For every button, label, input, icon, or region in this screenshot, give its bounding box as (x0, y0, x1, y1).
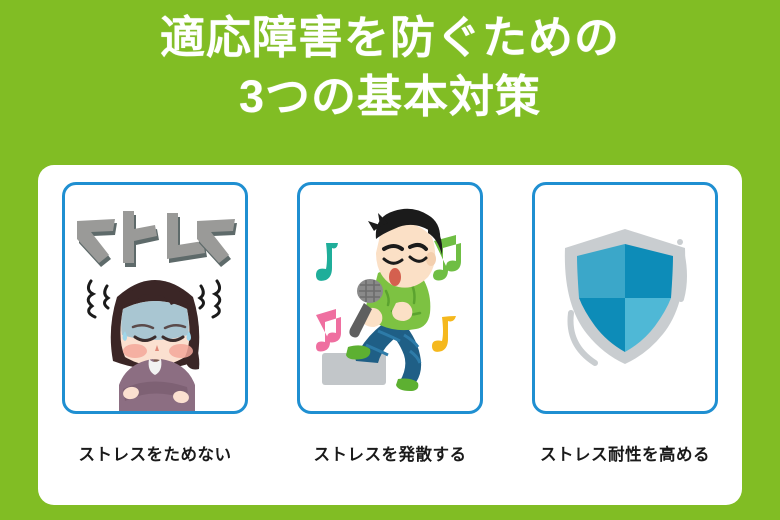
panel-caption-3: ストレス耐性を高める (540, 445, 710, 465)
mouth (389, 268, 401, 286)
poster-root: 適応障害を防ぐための 3つの基本対策 (0, 0, 780, 520)
panel-caption-2: ストレスを発散する (314, 445, 467, 465)
cheek-left (123, 344, 147, 358)
panel-stress-tolerance: ストレス耐性を高める (532, 182, 718, 505)
shield-icon (535, 185, 715, 411)
illustration-frame-2 (297, 182, 483, 414)
stressed-woman-illustration (65, 185, 245, 411)
illustration-frame-3 (532, 182, 718, 414)
title-line-2: 3つの基本対策 (0, 67, 780, 126)
panel-caption-1: ストレスをためない (79, 445, 232, 465)
pale-shading (121, 301, 189, 340)
page-title: 適応障害を防ぐための 3つの基本対策 (0, 8, 780, 126)
singing-man-illustration (300, 185, 480, 411)
panel-stress-avoid: ストレスをためない (62, 182, 248, 505)
music-note-yellow (432, 316, 456, 352)
music-note-teal (316, 243, 338, 281)
shoe-front (346, 345, 370, 359)
panel-row: ストレスをためない (38, 165, 742, 505)
stress-text-blocks (77, 211, 237, 267)
music-note-pink (316, 309, 341, 352)
panel-stress-release: ストレスを発散する (297, 182, 483, 505)
cheek-right (169, 344, 193, 358)
illustration-frame-1 (62, 182, 248, 414)
content-card: ストレスをためない (38, 165, 742, 505)
title-line-1: 適応障害を防ぐための (0, 8, 780, 67)
